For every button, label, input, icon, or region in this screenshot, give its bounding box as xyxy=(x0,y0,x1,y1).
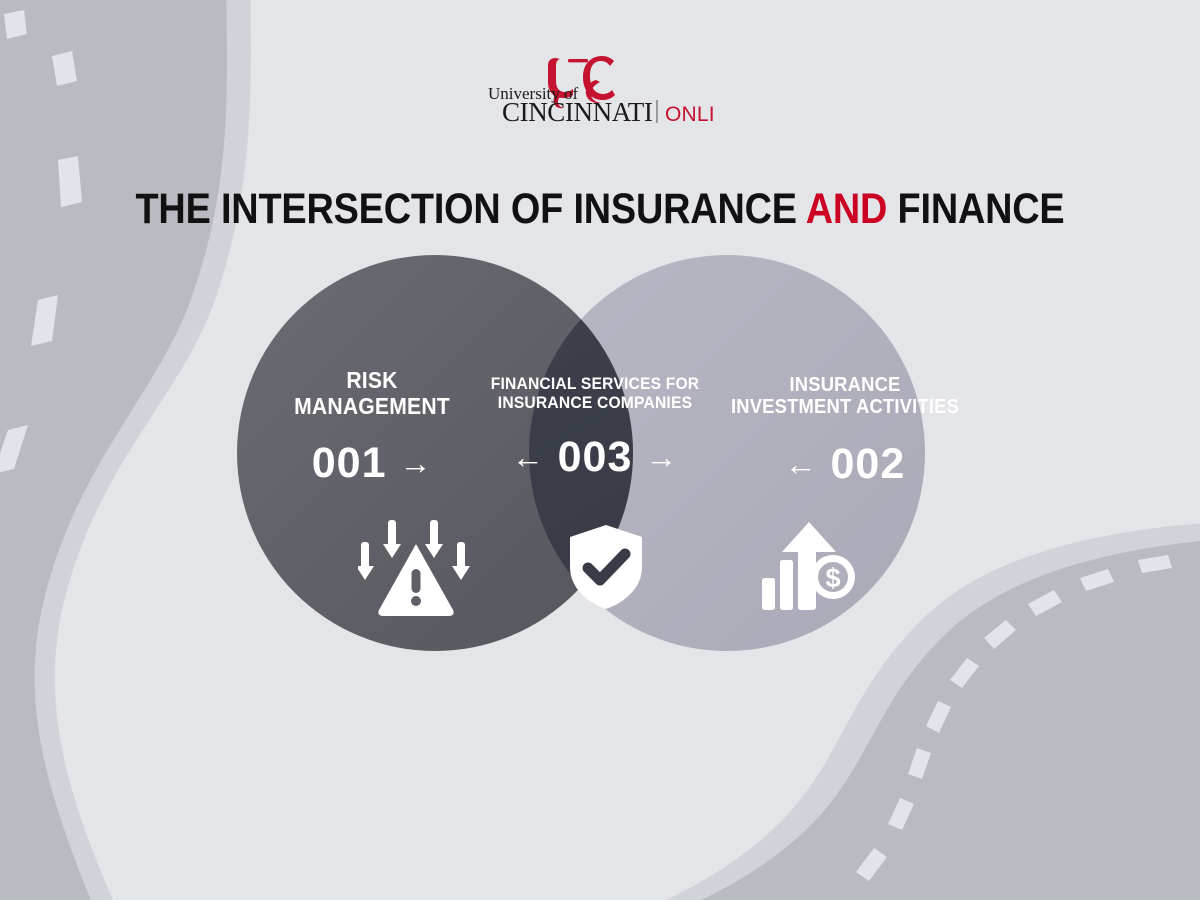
slide-canvas: University of CINCINNATI ONLINE THE INTE… xyxy=(0,0,1200,900)
venn-diagram xyxy=(0,0,1200,900)
